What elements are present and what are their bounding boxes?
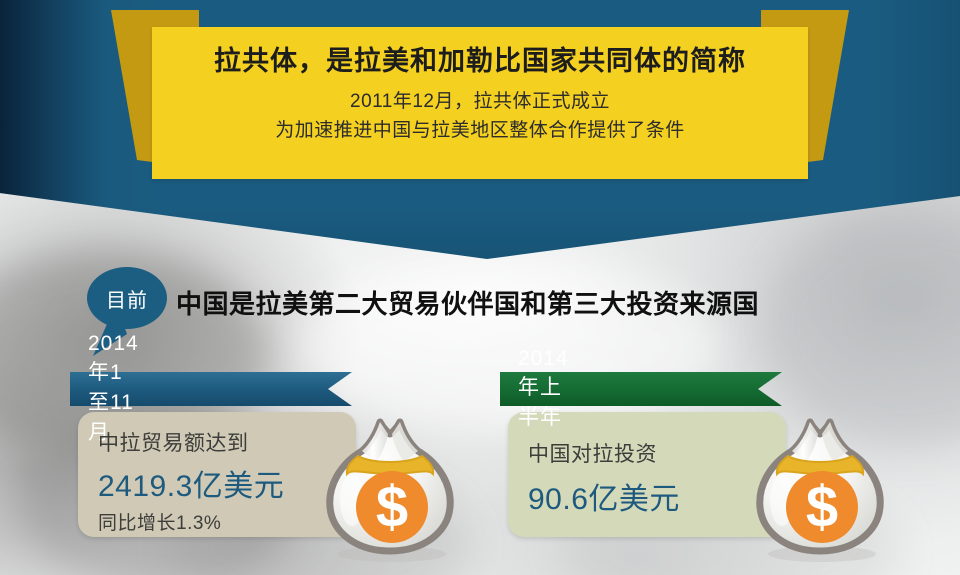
stat-card-value: 2419.3亿美元	[98, 461, 284, 505]
money-bag-icon: $	[748, 404, 893, 569]
banner-subtitle-line1: 2011年12月，拉共体正式成立	[152, 77, 808, 116]
stat-card-value: 90.6亿美元	[528, 474, 680, 518]
stat-card-text: 中拉贸易额达到 2419.3亿美元 同比增长1.3%	[98, 427, 284, 535]
banner-subtitle-line2: 为加速推进中国与拉美地区整体合作提供了条件	[152, 115, 808, 145]
stat-card-caption: 中拉贸易额达到	[98, 427, 284, 457]
stat-card-period-label: 2014年上半年	[518, 372, 569, 406]
stat-card-caption: 中国对拉投资	[528, 438, 680, 468]
dollar-symbol: $	[376, 475, 408, 540]
stat-card-period-label: 2014年1至11月	[88, 372, 139, 406]
banner-title: 拉共体，是拉美和加勒比国家共同体的简称	[152, 27, 808, 77]
stat-card-change: 同比增长1.3%	[98, 508, 284, 535]
dollar-symbol: $	[806, 475, 838, 540]
current-status-badge-label: 目前	[87, 267, 167, 329]
infographic-canvas: 拉共体，是拉美和加勒比国家共同体的简称 2011年12月，拉共体正式成立 为加速…	[0, 0, 960, 575]
lead-headline: 中国是拉美第二大贸易伙伴国和第三大投资来源国	[176, 284, 759, 321]
money-bag-icon: $	[318, 404, 463, 569]
banner-panel: 拉共体，是拉美和加勒比国家共同体的简称 2011年12月，拉共体正式成立 为加速…	[152, 27, 808, 179]
stat-card-text: 中国对拉投资 90.6亿美元	[528, 438, 680, 518]
